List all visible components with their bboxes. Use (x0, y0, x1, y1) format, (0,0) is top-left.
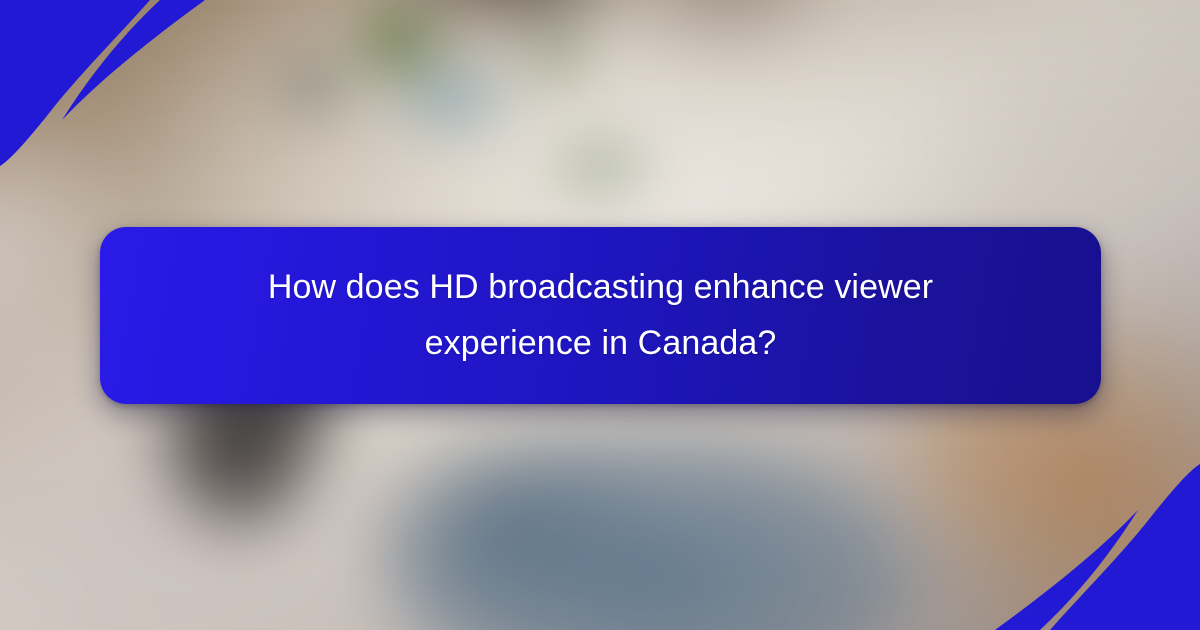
page-canvas: How does HD broadcasting enhance viewer … (0, 0, 1200, 630)
question-card[interactable]: How does HD broadcasting enhance viewer … (100, 227, 1101, 404)
question-text: How does HD broadcasting enhance viewer … (220, 260, 981, 370)
